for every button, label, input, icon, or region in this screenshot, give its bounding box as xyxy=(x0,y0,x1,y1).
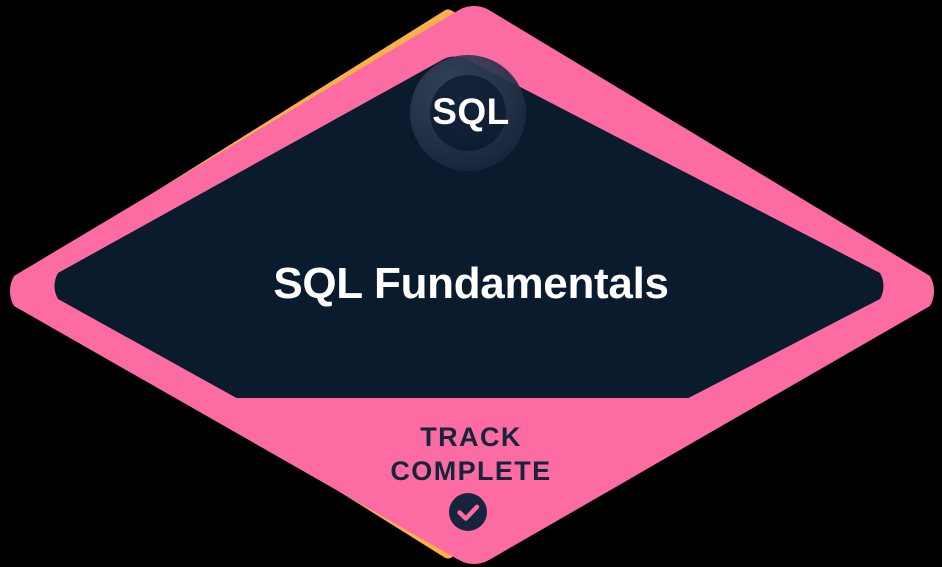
sql-chip-core xyxy=(430,75,506,151)
badge-graphic xyxy=(0,0,942,567)
track-completion-badge: SQL SQL Fundamentals TRACK COMPLETE xyxy=(0,0,942,567)
check-badge-circle xyxy=(449,493,487,531)
